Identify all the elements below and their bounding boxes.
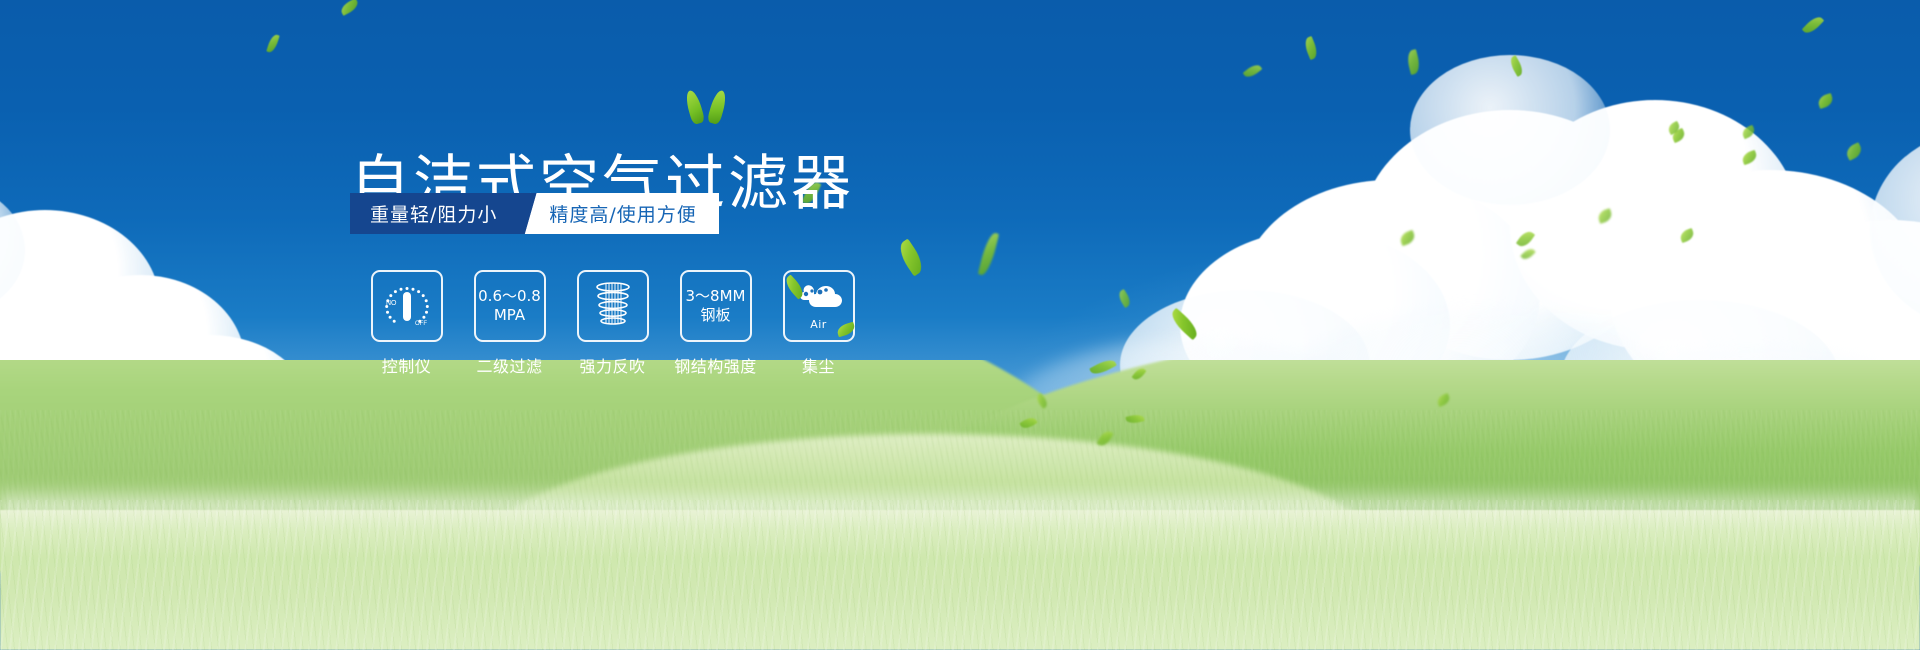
feature-label: 钢结构强度: [674, 353, 757, 377]
feature-item-dust: Air 集尘: [767, 270, 870, 377]
leaf-icon: [835, 322, 855, 338]
leaf-icon: [707, 89, 729, 125]
feature-label: 强力反吹: [579, 353, 645, 377]
tag-divider: [519, 193, 545, 234]
svg-text:OFF: OFF: [415, 321, 427, 327]
product-hero-banner: 自洁式空气过滤器 重量轻/阻力小 精度高/使用方便: [0, 0, 1920, 650]
filter-cartridge-icon: [577, 270, 649, 342]
steel-thickness: 3～8MM: [686, 287, 746, 306]
leaf-icon: [684, 89, 706, 125]
steel-plate-text-icon: 3～8MM 钢板: [680, 270, 752, 342]
banner-content: 自洁式空气过滤器 重量轻/阻力小 精度高/使用方便: [0, 0, 1920, 650]
steel-material: 钢板: [700, 306, 730, 325]
feature-item-pressure: 0.6～0.8 MPA 二级过滤: [458, 270, 561, 377]
feature-label: 控制仪: [382, 353, 432, 377]
feature-label: 二级过滤: [476, 353, 542, 377]
control-gauge-icon: NO OFF: [371, 270, 443, 342]
air-cloud-icon: Air: [783, 270, 855, 342]
feature-item-control: NO OFF 控制仪: [355, 270, 458, 377]
feature-item-blowback: 强力反吹: [561, 270, 664, 377]
feature-tag-group: 重量轻/阻力小 精度高/使用方便: [350, 193, 719, 234]
pressure-value: 0.6～0.8: [478, 287, 541, 306]
pressure-unit: MPA: [494, 306, 525, 325]
air-label: Air: [810, 315, 827, 334]
feature-item-steel: 3～8MM 钢板 钢结构强度: [664, 270, 767, 377]
feature-label: 集尘: [802, 353, 835, 377]
pressure-text-icon: 0.6～0.8 MPA: [474, 270, 546, 342]
feature-icon-row: NO OFF 控制仪 0.6～0.8 MPA 二级过滤: [355, 270, 870, 377]
title-leaves-decoration: [680, 88, 740, 124]
tag-precision-ease: 精度高/使用方便: [545, 193, 718, 234]
svg-text:NO: NO: [386, 300, 397, 307]
tag-weight-resistance: 重量轻/阻力小: [350, 193, 519, 234]
